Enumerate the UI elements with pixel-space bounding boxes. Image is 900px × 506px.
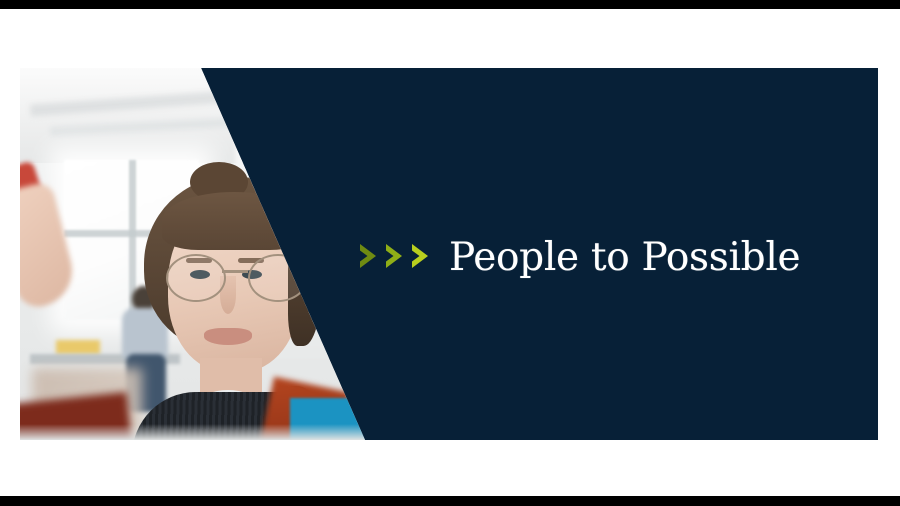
photo-woman-fringe	[162, 192, 306, 250]
photo-ceiling	[20, 68, 365, 163]
photo-glasses-lens-left	[166, 254, 226, 302]
screen-chrome-bottom-bar	[0, 496, 900, 506]
chevron-right-icon-2	[383, 241, 409, 271]
office-woman-writing-on-glass-photo	[20, 68, 365, 440]
photo-bottom-fade	[20, 424, 365, 440]
photo-glasses-bridge	[222, 270, 248, 273]
people-to-possible-banner: People to Possible	[20, 68, 878, 440]
chevron-right-icon-3	[409, 241, 435, 271]
photo-glasses-lens-right	[248, 254, 308, 302]
chevron-right-icon-1	[357, 241, 383, 271]
screen-chrome-top-bar	[0, 0, 900, 9]
photo-woman-lips	[204, 328, 252, 345]
photo-woman-glasses	[166, 254, 308, 298]
chevron-group	[357, 241, 435, 271]
photo-desk-item	[56, 340, 100, 354]
banner-headline: People to Possible	[449, 238, 800, 277]
page-canvas: People to Possible	[0, 9, 900, 496]
banner-headline-row: People to Possible	[357, 227, 800, 287]
